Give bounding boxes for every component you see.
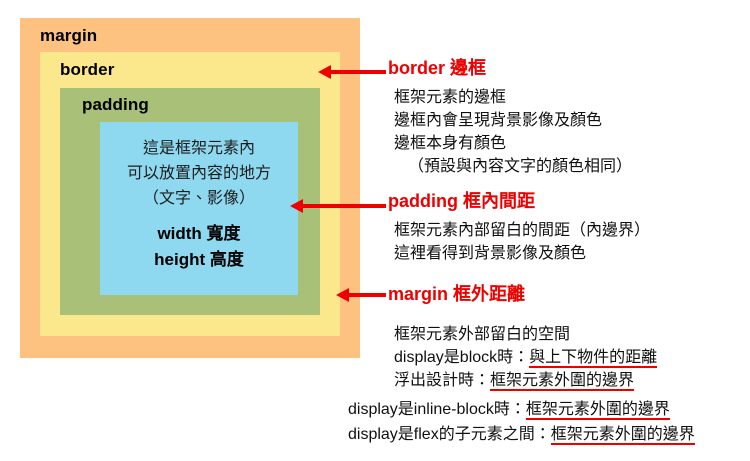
box-model-diagram: margin border padding 這是框架元素內 可以放置內容的地方 … (0, 0, 750, 461)
annotation-line: 這裡看得到背景影像及顏色 (394, 242, 650, 265)
arrow-shaft (346, 293, 386, 297)
margin-annotation: margin 框外距離 框架元素外部留白的空間 display是block時：與… (388, 283, 657, 392)
rule-emphasis: 框架元素外圍的邊界 (490, 372, 634, 391)
padding-annotation-body: 框架元素內部留白的間距（內邊界） 這裡看得到背景影像及顏色 (394, 219, 650, 265)
annotation-line: 框架元素內部留白的間距（內邊界） (394, 219, 650, 242)
padding-region-label: padding (82, 95, 149, 115)
content-height-label: height 高度 (100, 247, 298, 273)
border-annotation-body: 框架元素的邊框 邊框內會呈現背景影像及顏色 邊框本身有顏色 （預設與內容文字的顏… (394, 86, 632, 178)
rule-prefix: 浮出設計時： (394, 372, 490, 389)
annotation-line: 框架元素外部留白的空間 (394, 323, 657, 346)
content-spacer (100, 211, 298, 221)
annotation-rule-line: display是flex的子元素之間：框架元素外圍的邊界 (348, 422, 695, 447)
content-line: 可以放置內容的地方 (100, 161, 298, 186)
margin-annotation-body: 框架元素外部留白的空間 display是block時：與上下物件的距離 浮出設計… (394, 323, 657, 392)
padding-annotation: padding 框內間距 框架元素內部留白的間距（內邊界） 這裡看得到背景影像及… (388, 190, 650, 265)
extra-rules-block: display是inline-block時：框架元素外圍的邊界 display是… (348, 397, 695, 447)
content-line: 這是框架元素內 (100, 136, 298, 161)
rule-emphasis: 框架元素外圍的邊界 (551, 426, 695, 445)
rule-prefix: display是block時： (394, 349, 529, 366)
rule-emphasis: 框架元素外圍的邊界 (526, 401, 670, 420)
content-width-label: width 寬度 (100, 221, 298, 247)
annotation-line: 邊框內會呈現背景影像及顏色 (394, 109, 632, 132)
border-annotation-title: border 邊框 (388, 57, 632, 79)
rule-emphasis: 與上下物件的距離 (529, 349, 657, 368)
annotation-line: 邊框本身有顏色 (394, 132, 632, 155)
padding-annotation-title: padding 框內間距 (388, 190, 650, 212)
border-region-label: border (60, 60, 114, 80)
margin-region-label: margin (40, 26, 97, 46)
margin-annotation-title: margin 框外距離 (388, 283, 657, 305)
arrow-shaft (328, 70, 386, 74)
content-region-text: 這是框架元素內 可以放置內容的地方 （文字、影像） width 寬度 heigh… (100, 136, 298, 273)
border-annotation: border 邊框 框架元素的邊框 邊框內會呈現背景影像及顏色 邊框本身有顏色 … (388, 57, 632, 178)
content-line: （文字、影像） (100, 186, 298, 211)
annotation-rule-line: display是block時：與上下物件的距離 (394, 346, 657, 369)
annotation-line: 框架元素的邊框 (394, 86, 632, 109)
rule-prefix: display是inline-block時： (348, 401, 526, 418)
rule-prefix: display是flex的子元素之間： (348, 426, 551, 443)
annotation-rule-line: 浮出設計時：框架元素外圍的邊界 (394, 369, 657, 392)
annotation-line: （預設與內容文字的顏色相同） (394, 155, 632, 178)
annotation-rule-line: display是inline-block時：框架元素外圍的邊界 (348, 397, 695, 422)
arrow-shaft (300, 204, 386, 208)
